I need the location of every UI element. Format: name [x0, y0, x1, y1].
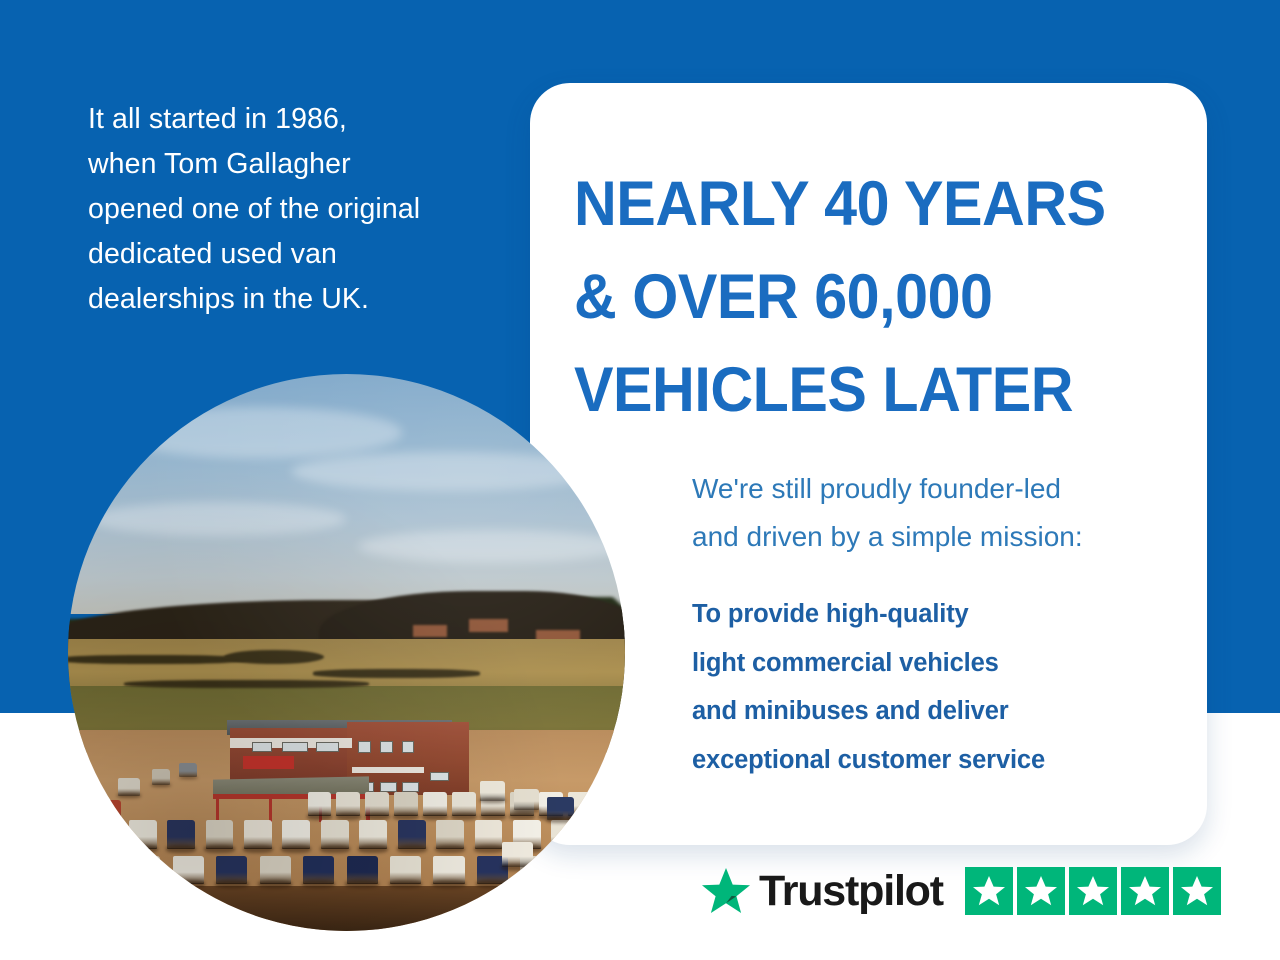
subheading-text: We're still proudly founder-led and driv…: [692, 465, 1192, 561]
mission-statement: To provide high-quality light commercial…: [692, 590, 1192, 784]
trustpilot-rating[interactable]: Trustpilot: [700, 866, 1221, 916]
star-tile[interactable]: [1069, 867, 1117, 915]
star-tile[interactable]: [1173, 867, 1221, 915]
intro-line: when Tom Gallagher: [88, 142, 508, 187]
headline-line: & OVER 60,000: [574, 251, 1157, 344]
mission-line: and minibuses and deliver: [692, 687, 1192, 736]
star-tile[interactable]: [1121, 867, 1169, 915]
subheading-line: We're still proudly founder-led: [692, 465, 1192, 513]
headline-line: NEARLY 40 YEARS: [574, 158, 1157, 251]
star-icon: [1075, 873, 1111, 909]
page-title: NEARLY 40 YEARS & OVER 60,000 VEHICLES L…: [574, 158, 1157, 437]
mission-line: To provide high-quality: [692, 590, 1192, 639]
headline-line: VEHICLES LATER: [574, 344, 1157, 437]
star-icon: [1127, 873, 1163, 909]
mission-line: light commercial vehicles: [692, 639, 1192, 688]
star-icon: [1179, 873, 1215, 909]
star-tile[interactable]: [1017, 867, 1065, 915]
mission-line: exceptional customer service: [692, 736, 1192, 785]
dealership-photo: [68, 374, 625, 931]
intro-line: dedicated used van: [88, 232, 508, 277]
trustpilot-logo[interactable]: Trustpilot: [700, 866, 943, 916]
star-icon: [971, 873, 1007, 909]
intro-line: It all started in 1986,: [88, 97, 508, 142]
star-tile[interactable]: [965, 867, 1013, 915]
star-icon: [1023, 873, 1059, 909]
trustpilot-star-icon: [700, 866, 752, 916]
intro-line: dealerships in the UK.: [88, 277, 508, 322]
intro-paragraph: It all started in 1986, when Tom Gallagh…: [88, 97, 508, 322]
intro-line: opened one of the original: [88, 187, 508, 232]
photo-lighting: [68, 374, 625, 931]
star-rating[interactable]: [965, 867, 1221, 915]
subheading-line: and driven by a simple mission:: [692, 513, 1192, 561]
trustpilot-wordmark: Trustpilot: [759, 870, 943, 913]
